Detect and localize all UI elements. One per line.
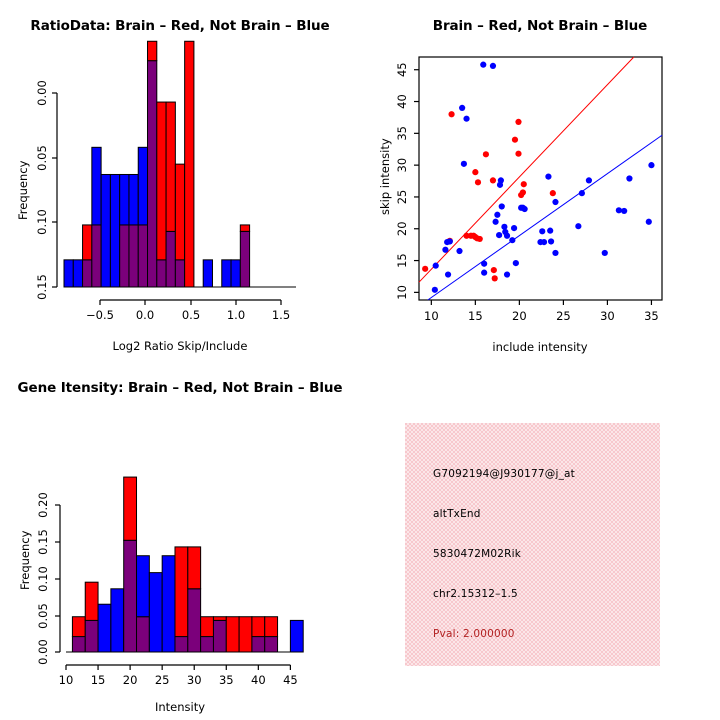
histogram-bar bbox=[101, 174, 110, 287]
histogram-bar-overlap bbox=[175, 260, 184, 287]
histogram-bar-overlap bbox=[72, 637, 85, 652]
gene-x-tick-6: 40 bbox=[251, 673, 266, 687]
histogram-bar bbox=[239, 617, 252, 652]
histogram-bar-overlap bbox=[201, 637, 214, 652]
scatter-point bbox=[496, 232, 502, 238]
ratio-x-axis-label: Log2 Ratio Skip/Include bbox=[0, 339, 360, 353]
histogram-bar bbox=[265, 617, 278, 637]
scatter-x-tick-3: 25 bbox=[556, 309, 571, 323]
ratio-y-tick-labels: 0.000.050.100.15 bbox=[35, 80, 49, 300]
scatter-point bbox=[513, 260, 519, 266]
scatter-point bbox=[491, 267, 497, 273]
gene-intensity-plot: 0.000.050.100.150.20 1015202530354045 bbox=[0, 360, 360, 720]
scatter-point bbox=[504, 233, 510, 239]
scatter-point bbox=[477, 236, 483, 242]
intensity-scatter-plot: 1015202530354045 101520253035 bbox=[360, 0, 720, 360]
ratio-histogram-plot: 0.000.050.100.15 −0.50.00.51.01.5 bbox=[0, 0, 360, 360]
histogram-bar bbox=[98, 604, 111, 652]
ratio-y-tick-3: 0.15 bbox=[35, 274, 49, 300]
scatter-x-tick-labels: 101520253035 bbox=[424, 309, 659, 323]
scatter-y-tick-4: 30 bbox=[395, 158, 409, 173]
scatter-point bbox=[552, 250, 558, 256]
ratio-histogram-bars bbox=[64, 41, 296, 287]
histogram-bar bbox=[222, 260, 231, 287]
ratio-x-tick-labels: −0.50.00.51.01.5 bbox=[86, 308, 290, 322]
ratio-y-tick-1: 0.05 bbox=[35, 145, 49, 171]
scatter-y-tick-6: 40 bbox=[395, 94, 409, 109]
histogram-bar bbox=[166, 102, 175, 231]
gene-y-tick-0: 0.00 bbox=[36, 639, 50, 665]
histogram-bar-overlap bbox=[129, 225, 138, 287]
gene-x-tick-0: 10 bbox=[59, 673, 74, 687]
gene-y-tick-1: 0.05 bbox=[36, 603, 50, 629]
histogram-bar bbox=[129, 174, 138, 224]
histogram-bar bbox=[64, 260, 73, 287]
histogram-bar-overlap bbox=[120, 225, 129, 287]
scatter-plot-frame bbox=[419, 57, 662, 300]
scatter-point bbox=[448, 111, 454, 117]
scatter-point bbox=[646, 219, 652, 225]
histogram-bar bbox=[149, 573, 162, 652]
histogram-bar-overlap bbox=[138, 225, 147, 287]
histogram-bar bbox=[120, 174, 129, 224]
scatter-point bbox=[541, 239, 547, 245]
histogram-bar-overlap bbox=[137, 617, 150, 652]
scatter-x-axis-label: include intensity bbox=[360, 340, 720, 354]
scatter-data-points bbox=[422, 62, 654, 293]
scatter-point bbox=[492, 219, 498, 225]
scatter-point bbox=[539, 228, 545, 234]
scatter-point bbox=[515, 119, 521, 125]
scatter-point bbox=[481, 270, 487, 276]
scatter-point bbox=[547, 228, 553, 234]
gene-x-tick-labels: 1015202530354045 bbox=[59, 673, 298, 687]
scatter-point bbox=[490, 63, 496, 69]
scatter-y-tick-7: 45 bbox=[395, 62, 409, 77]
brain-fit-line bbox=[419, 57, 634, 282]
probe-id-text: G7092194@J930177@j_at bbox=[433, 468, 575, 480]
scatter-point bbox=[432, 287, 438, 293]
scatter-point bbox=[512, 137, 518, 143]
gene-info-background: G7092194@J930177@j_at altTxEnd 5830472M0… bbox=[405, 423, 660, 666]
ratio-x-tick-3: 1.0 bbox=[227, 308, 245, 322]
histogram-bar bbox=[201, 617, 214, 637]
histogram-bar-overlap bbox=[213, 620, 226, 652]
histogram-bar-overlap bbox=[240, 231, 249, 287]
not-brain-fit-line bbox=[428, 135, 662, 300]
ratio-x-tick-1: 0.0 bbox=[136, 308, 154, 322]
histogram-bar bbox=[231, 260, 240, 287]
histogram-bar-overlap bbox=[83, 260, 92, 287]
gene-x-axis-label: Intensity bbox=[0, 700, 360, 714]
histogram-bar bbox=[226, 617, 239, 652]
pval-text: Pval: 2.000000 bbox=[433, 628, 515, 640]
histogram-bar-overlap bbox=[175, 637, 188, 652]
histogram-bar-overlap bbox=[188, 589, 201, 652]
scatter-x-tick-0: 10 bbox=[424, 309, 439, 323]
histogram-bar bbox=[72, 617, 85, 637]
scatter-point bbox=[472, 169, 478, 175]
scatter-y-tick-3: 25 bbox=[395, 190, 409, 205]
scatter-point bbox=[511, 225, 517, 231]
scatter-point bbox=[494, 212, 500, 218]
scatter-point bbox=[475, 179, 481, 185]
ratio-histogram-svg: 0.000.050.100.15 −0.50.00.51.01.5 bbox=[0, 0, 360, 360]
scatter-point bbox=[616, 207, 622, 213]
scatter-x-axis bbox=[431, 300, 651, 305]
ratio-x-tick-4: 1.5 bbox=[272, 308, 290, 322]
scatter-y-tick-labels: 1015202530354045 bbox=[395, 62, 409, 299]
gene-y-axis-label: Frequency bbox=[18, 531, 32, 590]
gene-info-panel: G7092194@J930177@j_at altTxEnd 5830472M0… bbox=[360, 360, 720, 720]
histogram-bar-overlap bbox=[92, 225, 101, 287]
gene-y-tick-3: 0.15 bbox=[36, 529, 50, 555]
scatter-x-tick-1: 15 bbox=[468, 309, 483, 323]
scatter-point bbox=[422, 266, 428, 272]
histogram-bar-overlap bbox=[166, 231, 175, 287]
scatter-point bbox=[621, 208, 627, 214]
gene-x-tick-7: 45 bbox=[283, 673, 298, 687]
histogram-bar bbox=[290, 620, 303, 652]
histogram-bar-overlap bbox=[252, 637, 265, 652]
scatter-x-tick-5: 35 bbox=[644, 309, 659, 323]
scatter-point bbox=[626, 175, 632, 181]
histogram-bar bbox=[83, 225, 92, 260]
scatter-point bbox=[483, 151, 489, 157]
gene-intensity-svg: 0.000.050.100.150.20 1015202530354045 bbox=[0, 360, 360, 720]
scatter-point bbox=[552, 199, 558, 205]
scatter-point bbox=[461, 161, 467, 167]
ratio-x-tick-0: −0.5 bbox=[86, 308, 114, 322]
histogram-bar bbox=[111, 589, 124, 652]
scatter-y-axis bbox=[414, 70, 419, 293]
gene-y-tick-labels: 0.000.050.100.150.20 bbox=[36, 492, 50, 665]
scatter-point bbox=[480, 62, 486, 68]
scatter-point bbox=[575, 223, 581, 229]
gene-symbol-text: 5830472M02Rik bbox=[433, 548, 521, 560]
ratio-histogram-panel: RatioData: Brain – Red, Not Brain – Blue… bbox=[0, 0, 360, 360]
scatter-point bbox=[447, 238, 453, 244]
scatter-point bbox=[498, 177, 504, 183]
ratio-y-axis bbox=[52, 93, 57, 287]
gene-y-axis bbox=[55, 505, 60, 652]
scatter-y-axis-label: skip intensity bbox=[378, 138, 392, 215]
histogram-bar bbox=[124, 477, 137, 540]
scatter-point bbox=[504, 271, 510, 277]
histogram-bar bbox=[240, 225, 249, 231]
scatter-point bbox=[515, 151, 521, 157]
gene-y-tick-2: 0.10 bbox=[36, 566, 50, 592]
locus-text: chr2.15312–1.5 bbox=[433, 588, 518, 600]
histogram-bar-overlap bbox=[265, 637, 278, 652]
histogram-bar-overlap bbox=[85, 620, 98, 652]
scatter-point bbox=[522, 206, 528, 212]
histogram-bar-overlap bbox=[124, 540, 137, 652]
gene-x-tick-3: 25 bbox=[155, 673, 170, 687]
histogram-bar bbox=[85, 582, 98, 620]
scatter-point bbox=[481, 261, 487, 267]
scatter-x-tick-2: 20 bbox=[512, 309, 527, 323]
scatter-point bbox=[586, 177, 592, 183]
histogram-bar-overlap bbox=[157, 260, 166, 287]
scatter-point bbox=[492, 275, 498, 281]
gene-x-tick-4: 30 bbox=[187, 673, 202, 687]
scatter-y-tick-2: 20 bbox=[395, 221, 409, 236]
scatter-point bbox=[445, 271, 451, 277]
scatter-point bbox=[459, 105, 465, 111]
scatter-point bbox=[545, 173, 551, 179]
scatter-point bbox=[521, 181, 527, 187]
ratio-y-tick-0: 0.00 bbox=[35, 80, 49, 106]
scatter-point bbox=[442, 247, 448, 253]
scatter-y-tick-1: 15 bbox=[395, 253, 409, 268]
intensity-scatter-panel: Brain – Red, Not Brain – Blue 1015202530… bbox=[360, 0, 720, 360]
gene-x-tick-2: 20 bbox=[123, 673, 138, 687]
histogram-bar bbox=[148, 41, 157, 60]
scatter-point bbox=[463, 116, 469, 122]
ratio-y-axis-label: Frequency bbox=[16, 161, 30, 220]
intensity-scatter-svg: 1015202530354045 101520253035 bbox=[360, 0, 720, 360]
scatter-point bbox=[548, 238, 554, 244]
histogram-bar bbox=[203, 260, 212, 287]
gene-intensity-panel: Gene Itensity: Brain – Red, Not Brain – … bbox=[0, 360, 360, 720]
histogram-bar bbox=[252, 617, 265, 637]
scatter-point bbox=[520, 189, 526, 195]
histogram-bar bbox=[175, 547, 188, 637]
scatter-point bbox=[579, 190, 585, 196]
histogram-bar bbox=[188, 547, 201, 589]
scatter-point bbox=[648, 162, 654, 168]
scatter-point bbox=[550, 190, 556, 196]
ratio-y-tick-2: 0.10 bbox=[35, 209, 49, 235]
histogram-bar bbox=[92, 147, 101, 225]
scatter-x-tick-4: 30 bbox=[600, 309, 615, 323]
histogram-bar bbox=[185, 41, 194, 287]
histogram-bar bbox=[175, 164, 184, 260]
histogram-bar bbox=[213, 617, 226, 621]
scatter-point bbox=[509, 237, 515, 243]
gene-x-axis bbox=[66, 665, 290, 670]
histogram-bar bbox=[110, 174, 119, 287]
scatter-point bbox=[456, 248, 462, 254]
gene-x-tick-1: 15 bbox=[91, 673, 106, 687]
ratio-x-axis bbox=[100, 300, 281, 305]
ratio-x-tick-2: 0.5 bbox=[182, 308, 200, 322]
histogram-bar bbox=[138, 147, 147, 225]
scatter-reference-lines bbox=[419, 57, 662, 300]
histogram-bar bbox=[137, 556, 150, 617]
event-type-text: altTxEnd bbox=[433, 508, 481, 520]
scatter-y-tick-0: 10 bbox=[395, 285, 409, 300]
histogram-bar bbox=[157, 102, 166, 260]
histogram-bar bbox=[73, 260, 82, 287]
scatter-point bbox=[602, 250, 608, 256]
histogram-bar bbox=[162, 556, 175, 652]
gene-y-tick-4: 0.20 bbox=[36, 492, 50, 518]
scatter-y-tick-5: 35 bbox=[395, 126, 409, 141]
histogram-bar-overlap bbox=[148, 61, 157, 287]
scatter-point bbox=[490, 177, 496, 183]
scatter-point bbox=[433, 263, 439, 269]
gene-x-tick-5: 35 bbox=[219, 673, 234, 687]
scatter-point bbox=[499, 203, 505, 209]
gene-intensity-bars bbox=[66, 477, 303, 652]
